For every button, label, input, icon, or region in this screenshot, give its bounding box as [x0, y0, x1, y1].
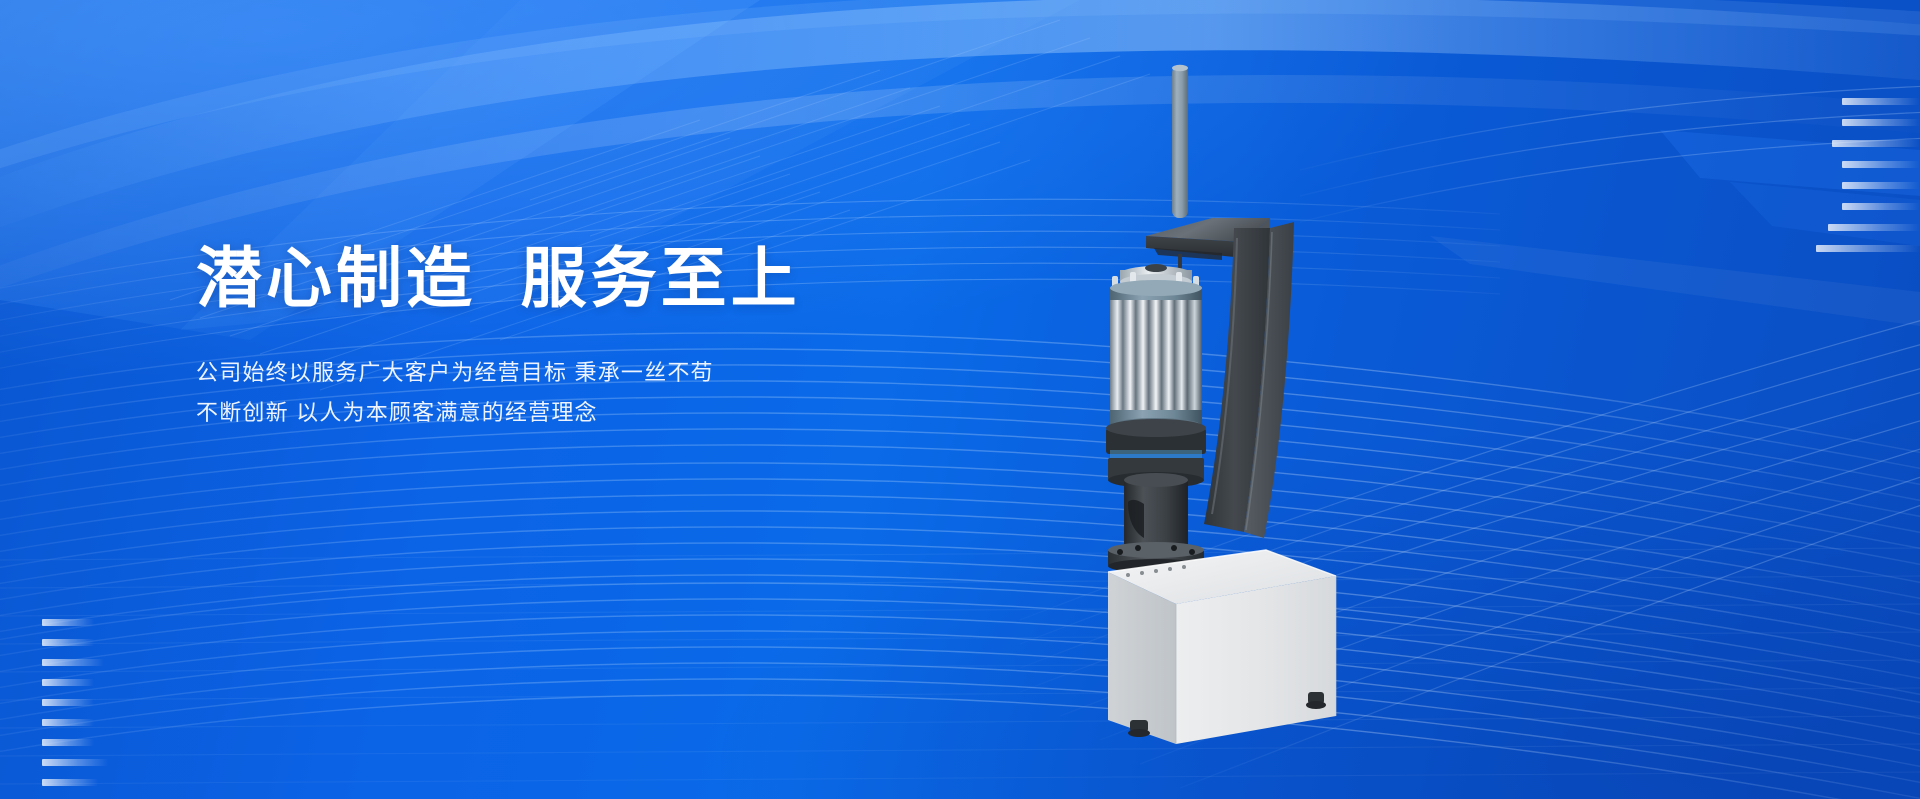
decor-tick	[42, 679, 94, 686]
decor-tick	[1832, 140, 1920, 147]
hero-banner: 潜心制造 服务至上 公司始终以服务广大客户为经营目标 秉承一丝不苟 不断创新 以…	[0, 0, 1920, 799]
decor-tick	[1828, 224, 1920, 231]
decor-tick	[42, 659, 104, 666]
decor-ticks-right	[1816, 98, 1920, 266]
cylindrical-pedestal	[1108, 473, 1204, 573]
decor-tick	[1842, 203, 1920, 210]
post-rod	[1172, 65, 1188, 218]
decor-tick	[1816, 245, 1920, 252]
banner-text-block: 潜心制造 服务至上 公司始终以服务广大客户为经营目标 秉承一丝不苟 不断创新 以…	[196, 238, 1016, 434]
motor-housing-finned	[1110, 264, 1202, 434]
banner-subtitle: 公司始终以服务广大客户为经营目标 秉承一丝不苟 不断创新 以人为本顾客满意的经营…	[196, 353, 1016, 434]
decor-tick	[42, 639, 94, 646]
banner-subtitle-line: 公司始终以服务广大客户为经营目标 秉承一丝不苟	[196, 353, 1016, 394]
decor-tick	[1842, 119, 1920, 126]
decor-tick	[1842, 182, 1920, 189]
decor-ticks-bottom-left	[42, 619, 108, 799]
decor-tick	[42, 759, 108, 766]
decor-tick	[42, 699, 94, 706]
vertical-mixer-machine-image	[1094, 52, 1394, 752]
vertical-column	[1204, 222, 1294, 538]
decor-tick	[42, 739, 94, 746]
decor-tick	[42, 779, 98, 786]
decor-tick	[1842, 161, 1920, 168]
cabinet-base	[1108, 550, 1336, 744]
banner-headline: 潜心制造 服务至上	[196, 238, 1016, 319]
decor-tick	[42, 719, 94, 726]
decor-tick	[42, 619, 94, 626]
banner-subtitle-line: 不断创新 以人为本顾客满意的经营理念	[196, 393, 1016, 434]
decor-tick	[1842, 98, 1920, 105]
